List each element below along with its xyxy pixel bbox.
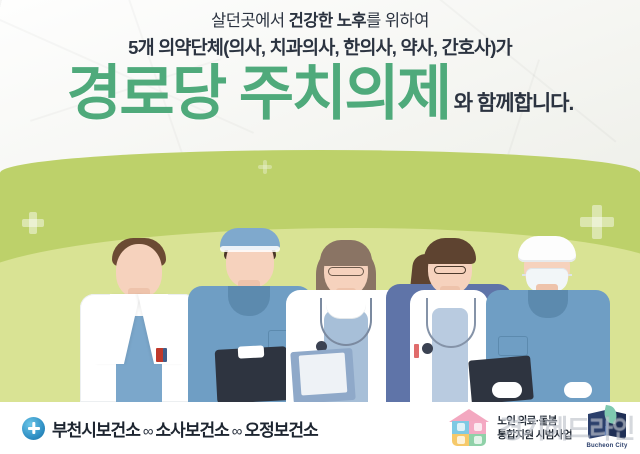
program-name-line-2: 통합지원 시범사업 bbox=[497, 428, 572, 442]
house-quadrant bbox=[469, 434, 486, 447]
sleeve-cuff bbox=[492, 382, 522, 398]
pocket-pen bbox=[414, 344, 419, 358]
figure-male-doctor bbox=[76, 234, 202, 402]
house-quadrant bbox=[452, 421, 469, 434]
glasses-icon bbox=[434, 266, 466, 274]
health-center-name-2: 오정보건소 bbox=[244, 421, 317, 440]
medical-staff-illustration bbox=[0, 217, 640, 402]
figure-masked-nurse bbox=[486, 236, 610, 402]
house-quadrant bbox=[452, 434, 469, 447]
sleeve-cuff bbox=[564, 382, 592, 398]
program-name: 노인 의료·돌봄 통합지원 시범사업 bbox=[497, 414, 572, 442]
headline-tail: 와 함께합니다. bbox=[454, 87, 574, 126]
bucheon-city-logo-icon: Bucheon City bbox=[584, 408, 630, 448]
pocket-pen bbox=[163, 348, 167, 362]
headline-line-1-emphasis: 건강한 노후 bbox=[289, 12, 366, 30]
poster-root: 살던곳에서 건강한 노후를 위하여 5개 의약단체(의사, 치과의사, 한의사,… bbox=[0, 0, 640, 454]
stethoscope-bell bbox=[422, 343, 433, 354]
headline-line-3: 경로당 주치의제 와 함께합니다. bbox=[0, 62, 640, 127]
headline-block: 살던곳에서 건강한 노후를 위하여 5개 의약단체(의사, 치과의사, 한의사,… bbox=[0, 0, 640, 126]
program-house-logo-icon bbox=[449, 409, 489, 447]
house-body bbox=[452, 421, 486, 446]
headline-line-2: 5개 의약단체(의사, 치과의사, 한의사, 약사, 간호사)가 bbox=[0, 36, 640, 60]
headline-line-1-prefix: 살던곳에서 bbox=[211, 12, 288, 30]
medical-cross-icon bbox=[258, 160, 272, 174]
program-name-line-1: 노인 의료·돌봄 bbox=[497, 414, 572, 428]
headline-line-1: 살던곳에서 건강한 노후를 위하여 bbox=[0, 11, 640, 32]
clipboard-paper bbox=[299, 352, 348, 395]
nurse-cap bbox=[518, 236, 576, 262]
footer-right-group: 노인 의료·돌봄 통합지원 시범사업 Bucheon City bbox=[449, 408, 640, 448]
headline-line-1-suffix: 를 위하여 bbox=[366, 12, 429, 30]
house-quadrant bbox=[469, 421, 486, 434]
hair bbox=[424, 238, 476, 264]
health-center-name-1: 소사보건소 bbox=[156, 421, 229, 440]
health-center-name-0: 부천시보건소 bbox=[52, 421, 140, 440]
separator-icon: ∞ bbox=[140, 423, 156, 440]
headline-highlight: 경로당 주치의제 bbox=[67, 62, 450, 127]
bucheon-health-center-logo-icon bbox=[22, 417, 45, 440]
footer-bar: 부천시보건소∞소사보건소∞오정보건소 노인 의료·돌봄 통합지원 시범사업 bbox=[0, 402, 640, 454]
footer-left-group: 부천시보건소∞소사보건소∞오정보건소 bbox=[0, 416, 318, 441]
clipboard-clip bbox=[238, 345, 265, 358]
hair bbox=[320, 240, 372, 266]
separator-icon: ∞ bbox=[229, 423, 245, 440]
stethoscope-icon bbox=[426, 298, 476, 348]
glasses-icon bbox=[328, 267, 364, 276]
city-logo-caption: Bucheon City bbox=[584, 443, 630, 449]
health-centers-list: 부천시보건소∞소사보건소∞오정보건소 bbox=[52, 416, 318, 441]
surgical-cap-band bbox=[220, 246, 280, 252]
chest-pocket bbox=[498, 336, 528, 356]
